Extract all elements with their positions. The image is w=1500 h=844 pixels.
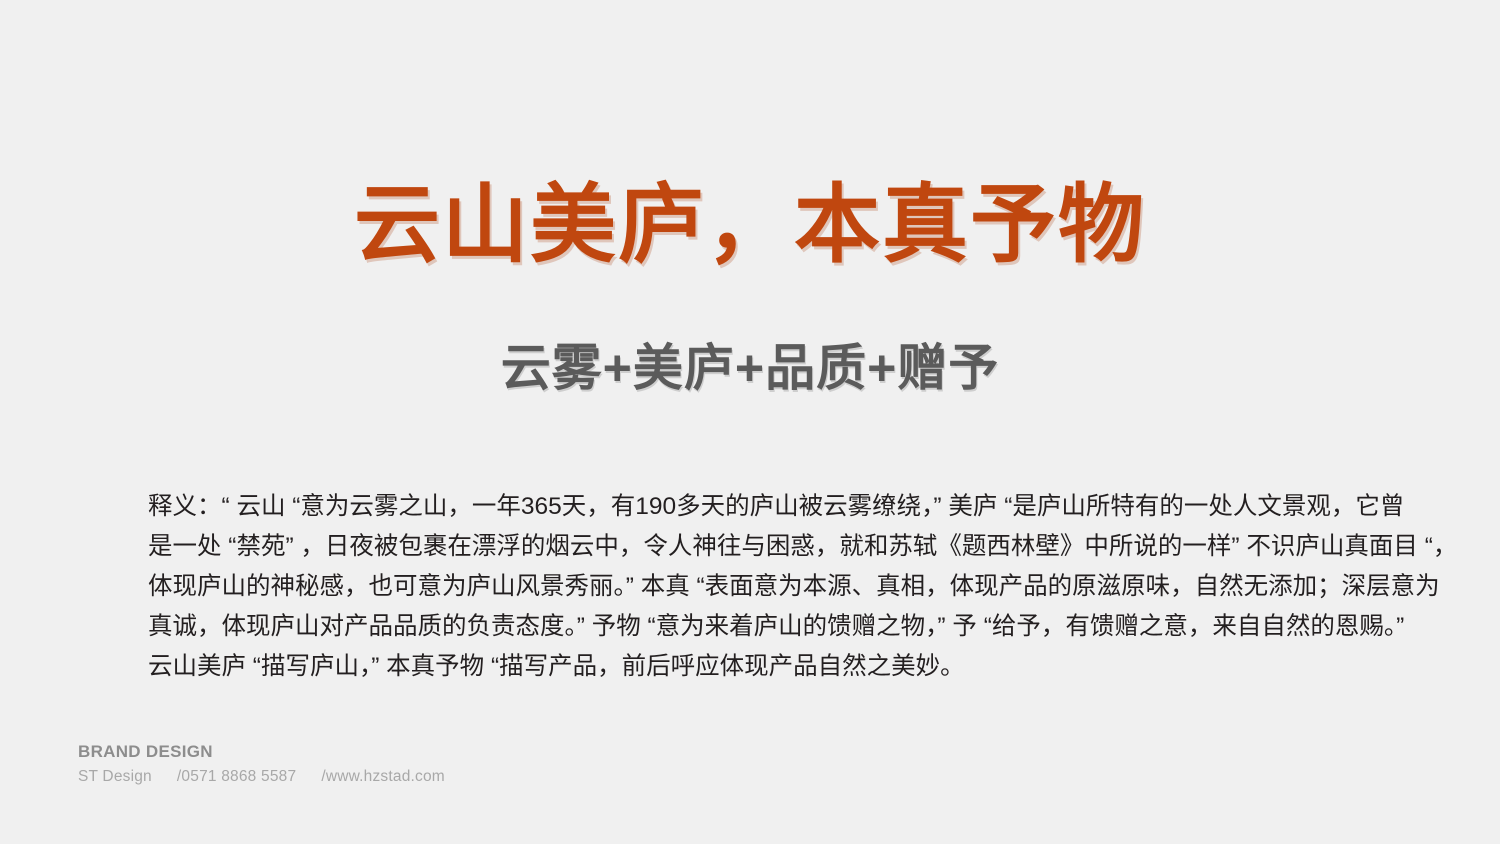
slide-subtitle: 云雾+美庐+品质+赠予: [0, 336, 1500, 400]
presentation-slide: 云山美庐，本真予物 云雾+美庐+品质+赠予 释义：“ 云山 “意为云雾之山，一年…: [0, 0, 1500, 844]
footer-website: /www.hzstad.com: [321, 767, 445, 787]
body-line-3: 体现庐山的神秘感，也可意为庐山风景秀丽。” 本真 “表面意为本源、真相，体现产品…: [148, 567, 1344, 607]
body-line-2: 是一处 “禁苑” ，日夜被包裹在漂浮的烟云中，令人神往与困惑，就和苏轼《题西林壁…: [148, 527, 1344, 567]
slide-title: 云山美庐，本真予物: [0, 170, 1500, 280]
footer: BRAND DESIGN ST Design /0571 8868 5587 /…: [78, 740, 678, 787]
footer-contact-line: ST Design /0571 8868 5587 /www.hzstad.co…: [78, 767, 678, 787]
footer-studio-name: ST Design: [78, 767, 152, 787]
body-line-1: 释义：“ 云山 “意为云雾之山，一年365天，有190多天的庐山被云雾缭绕，” …: [148, 487, 1344, 527]
footer-brand-label: BRAND DESIGN: [78, 740, 678, 763]
body-line-4: 真诚，体现庐山对产品品质的负责态度。” 予物 “意为来着庐山的馈赠之物，” 予 …: [148, 607, 1344, 647]
body-line-5: 云山美庐 “描写庐山，” 本真予物 “描写产品，前后呼应体现产品自然之美妙。: [148, 647, 1344, 687]
body-text-block: 释义：“ 云山 “意为云雾之山，一年365天，有190多天的庐山被云雾缭绕，” …: [148, 487, 1344, 687]
footer-phone: /0571 8868 5587: [177, 767, 296, 787]
